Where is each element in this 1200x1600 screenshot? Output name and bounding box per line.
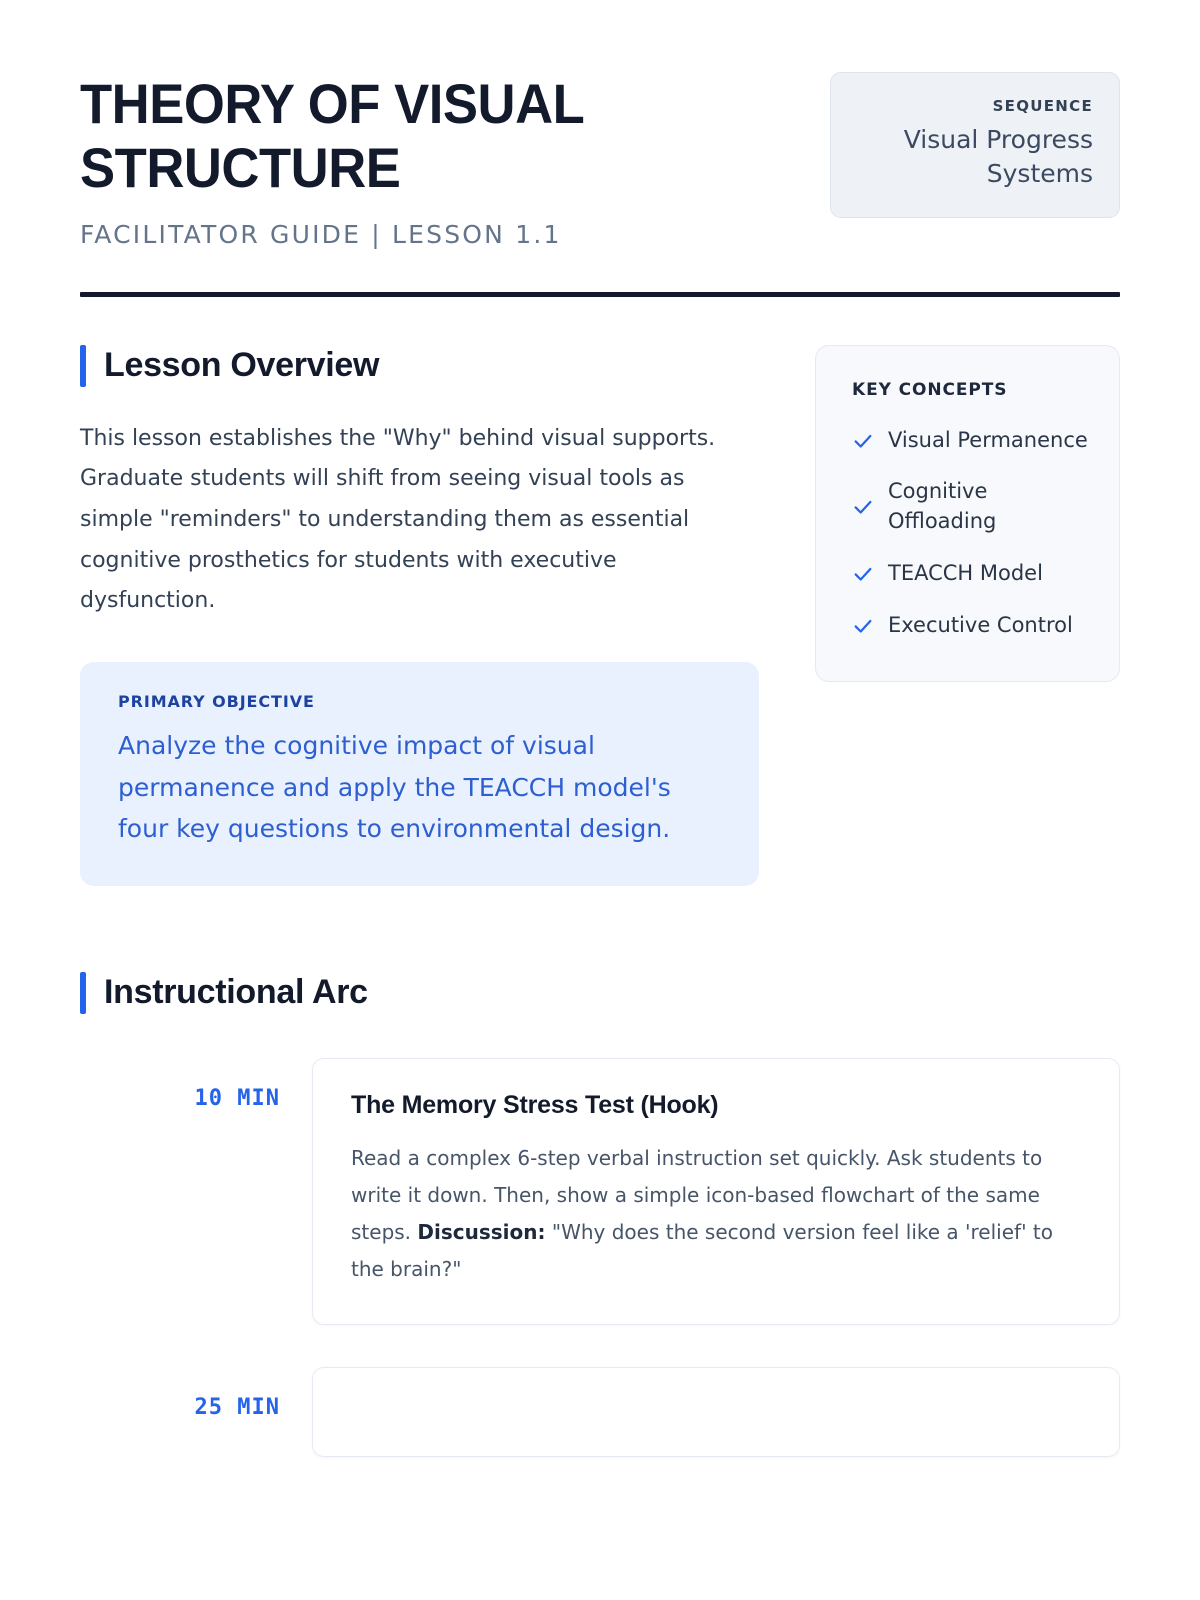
- list-item: Executive Control: [852, 611, 1089, 641]
- header-title-block: THEORY OF VISUAL STRUCTURE FACILITATOR G…: [80, 72, 790, 250]
- primary-objective-label: PRIMARY OBJECTIVE: [118, 692, 721, 711]
- timeline-duration: 10 MIN: [80, 1058, 280, 1325]
- timeline-card-title: The Memory Stress Test (Hook): [351, 1091, 1081, 1120]
- section-accent-bar: [80, 972, 86, 1014]
- page-title: THEORY OF VISUAL STRUCTURE: [80, 72, 682, 200]
- timeline-card-body: Read a complex 6-step verbal instruction…: [351, 1140, 1081, 1288]
- document-header: THEORY OF VISUAL STRUCTURE FACILITATOR G…: [80, 0, 1120, 250]
- key-concept-label: TEACCH Model: [888, 559, 1043, 589]
- overview-main-column: Lesson Overview This lesson establishes …: [80, 345, 759, 886]
- list-item: TEACCH Model: [852, 559, 1089, 589]
- document-page: THEORY OF VISUAL STRUCTURE FACILITATOR G…: [0, 0, 1200, 1600]
- page-subtitle: FACILITATOR GUIDE | LESSON 1.1: [80, 220, 790, 250]
- sequence-value: Visual Progress Systems: [857, 123, 1093, 191]
- primary-objective-card: PRIMARY OBJECTIVE Analyze the cognitive …: [80, 662, 759, 886]
- check-icon: [852, 430, 874, 452]
- timeline-card: [312, 1367, 1120, 1457]
- lesson-overview-body: This lesson establishes the "Why" behind…: [80, 419, 740, 622]
- timeline-duration: 25 MIN: [80, 1367, 280, 1457]
- lesson-overview-heading: Lesson Overview: [80, 345, 759, 387]
- check-icon: [852, 563, 874, 585]
- primary-objective-text: Analyze the cognitive impact of visual p…: [118, 725, 721, 850]
- section-accent-bar: [80, 345, 86, 387]
- body-emphasis: Discussion:: [417, 1220, 545, 1244]
- instructional-arc-section: Instructional Arc 10 MIN The Memory Stre…: [80, 972, 1120, 1457]
- key-concept-label: Cognitive Offloading: [888, 477, 1089, 537]
- lesson-overview-section: Lesson Overview This lesson establishes …: [80, 345, 1120, 886]
- timeline-row: 10 MIN The Memory Stress Test (Hook) Rea…: [80, 1058, 1120, 1325]
- check-icon: [852, 496, 874, 518]
- sequence-label: SEQUENCE: [857, 97, 1093, 115]
- timeline: 10 MIN The Memory Stress Test (Hook) Rea…: [80, 1058, 1120, 1457]
- instructional-arc-heading: Instructional Arc: [80, 972, 1120, 1014]
- header-divider: [80, 292, 1120, 297]
- sequence-badge: SEQUENCE Visual Progress Systems: [830, 72, 1120, 218]
- list-item: Cognitive Offloading: [852, 477, 1089, 537]
- timeline-row: 25 MIN: [80, 1367, 1120, 1457]
- lesson-overview-title: Lesson Overview: [104, 346, 379, 385]
- check-icon: [852, 615, 874, 637]
- instructional-arc-title: Instructional Arc: [104, 973, 368, 1012]
- key-concept-label: Executive Control: [888, 611, 1073, 641]
- key-concepts-list: Visual Permanence Cognitive Offloading T…: [852, 426, 1089, 641]
- list-item: Visual Permanence: [852, 426, 1089, 456]
- timeline-card: The Memory Stress Test (Hook) Read a com…: [312, 1058, 1120, 1325]
- key-concepts-card: KEY CONCEPTS Visual Permanence Cognitive…: [815, 345, 1120, 682]
- key-concepts-title: KEY CONCEPTS: [852, 380, 1089, 400]
- key-concept-label: Visual Permanence: [888, 426, 1088, 456]
